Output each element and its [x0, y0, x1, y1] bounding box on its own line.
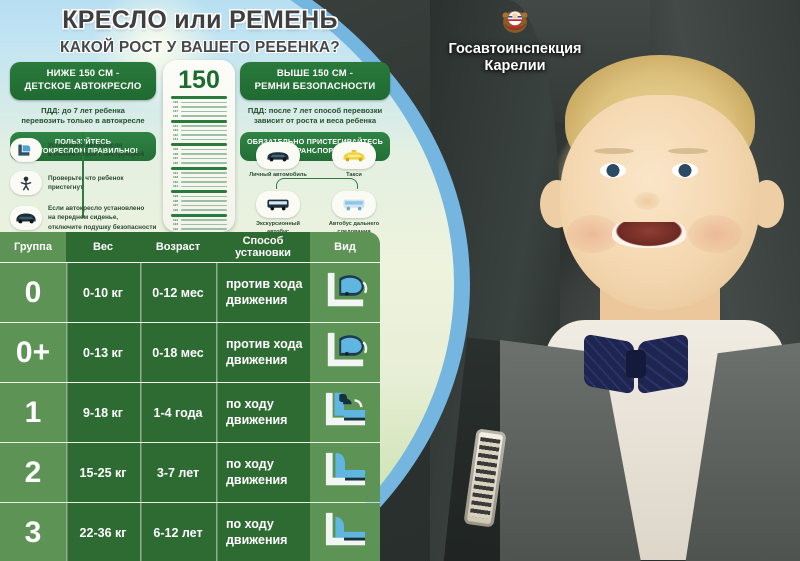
cell-age: 3-7 лет [140, 443, 216, 502]
cell-install: по ходу движения [216, 383, 310, 442]
list-item-text: Проверьте, что ребенок пристегнут [48, 174, 124, 193]
cell-age: 0-12 мес [140, 263, 216, 322]
over-150-note-line-1: ПДД: после 7 лет способ перевозки [240, 106, 390, 116]
table-row: 0 0-10 кг 0-12 мес против хода движения [0, 262, 380, 322]
cell-install: по ходу движения [216, 503, 310, 561]
ruler-tick-label: 139 [171, 148, 178, 151]
ruler-major-tick [171, 143, 227, 146]
under-150-note-line-1: ПДД: до 7 лет ребенка [10, 106, 156, 116]
cell-view [310, 383, 380, 442]
ruler-tick-label: 123 [171, 223, 178, 226]
over-150-note: ПДД: после 7 лет способ перевозки зависи… [240, 106, 390, 127]
transport-item: Такси [319, 142, 389, 179]
ruler-tick-label: 143 [171, 129, 178, 132]
infographic-poster: Госавтоинспекция Карелии КРЕСЛО или РЕМЕ… [0, 0, 800, 561]
cell-view [310, 263, 380, 322]
ruler-tick-label: 133 [171, 176, 178, 179]
title-heading: КРЕСЛО или РЕМЕНЬ [0, 6, 400, 35]
cell-age: 1-4 года [140, 383, 216, 442]
table-row: 3 22-36 кг 6-12 лет по ходу движения [0, 502, 380, 561]
column-header-weight: Вес [66, 232, 140, 262]
over-150-banner-line-1: ВЫШЕ 150 СМ - [244, 68, 386, 81]
over-150-note-line-2: зависит от роста и веса ребенка [240, 116, 390, 126]
cell-install: против хода движения [216, 323, 310, 382]
ruler-major-tick [171, 167, 227, 170]
cell-weight: 15-25 кг [66, 443, 140, 502]
cell-group: 2 [0, 443, 66, 502]
ruler-tick-label: 137 [171, 157, 178, 160]
buckled-child-icon [10, 171, 42, 195]
booster-highback-forward-facing-icon [318, 449, 372, 496]
cell-install-line-1: по ходу [226, 517, 287, 533]
table-header-row: Группа Вес Возраст Способ установки Вид [0, 232, 380, 262]
column-header-install: Способ установки [216, 232, 310, 262]
title-subheading: КАКОЙ РОСТ У ВАШЕГО РЕБЕНКА? [0, 39, 400, 57]
transport-row-1: Личный автомобиль Такси [240, 142, 392, 179]
cell-install-line-2: движения [226, 413, 287, 429]
child-car-seat-icon [10, 138, 42, 162]
infant-carrier-rear-facing-icon [318, 329, 372, 376]
column-header-install-line-1: Способ [235, 235, 291, 247]
tip-2-line-1: Проверьте, что ребенок [48, 174, 124, 183]
cell-install: по ходу движения [216, 443, 310, 502]
ruler-group: 134 133 132 131 [163, 167, 235, 189]
ruler-value: 150 [163, 68, 235, 93]
cell-install: против хода движения [216, 263, 310, 322]
ruler-tick-label: 126 [171, 209, 178, 212]
cell-install-line-2: движения [226, 473, 287, 489]
ruler-tick-label: 147 [171, 110, 178, 113]
transport-label: Такси [319, 172, 389, 179]
ruler-group: 129 128 127 126 [163, 190, 235, 212]
ruler-major-tick [171, 120, 227, 123]
column-header-age: Возраст [140, 232, 216, 262]
tip-1-line-1: Установите автокресло [48, 141, 144, 150]
ruler-tick-label: 129 [171, 195, 178, 198]
page-title: КРЕСЛО или РЕМЕНЬ КАКОЙ РОСТ У ВАШЕГО РЕ… [0, 6, 400, 57]
cell-age: 0-18 мес [140, 323, 216, 382]
ruler-tick-label: 127 [171, 204, 178, 207]
cell-install-line-1: по ходу [226, 457, 287, 473]
over-150-banner: ВЫШЕ 150 СМ - РЕМНИ БЕЗОПАСНОСТИ [240, 62, 390, 100]
ruler-tick-label: 141 [171, 138, 178, 141]
ruler-tick-label: 149 [171, 101, 178, 104]
cell-install-line-1: против хода [226, 337, 302, 353]
baby-eye-left [600, 163, 626, 178]
tip-3-line-2: на переднем сиденье, [48, 213, 156, 222]
baby-eye-right [672, 163, 698, 178]
cell-group: 0+ [0, 323, 66, 382]
under-150-note-line-2: перевозить только в автокресле [10, 116, 156, 126]
list-item: Если автокресло установлено на переднем … [10, 204, 170, 232]
cell-group: 3 [0, 503, 66, 561]
baby-cheek-right [688, 215, 742, 253]
brand-block: Госавтоинспекция Карелии [400, 4, 630, 75]
tip-2-line-2: пристегнут [48, 183, 124, 192]
toddler-seat-harness-forward-facing-icon [318, 389, 372, 436]
ruler-group: 144 143 142 141 [163, 120, 235, 142]
cell-view [310, 503, 380, 561]
column-header-group: Группа [0, 232, 66, 262]
taxi-icon [332, 142, 376, 169]
ruler-major-tick [171, 96, 227, 99]
under-150-note: ПДД: до 7 лет ребенка перевозить только … [10, 106, 156, 127]
baby-mouth [612, 222, 686, 248]
ruler-tick-label: 146 [171, 115, 178, 118]
transport-row-2: Экскурсионный автобус Автобу [240, 191, 392, 236]
ruler-tick-label: 131 [171, 185, 178, 188]
tip-3-line-1: Если автокресло установлено [48, 204, 156, 213]
cell-view [310, 323, 380, 382]
brand-line-1: Госавтоинспекция [400, 41, 630, 58]
column-header-view: Вид [310, 232, 380, 262]
cell-weight: 0-13 кг [66, 323, 140, 382]
cell-weight: 22-36 кг [66, 503, 140, 561]
cell-group: 1 [0, 383, 66, 442]
booster-lowback-forward-facing-icon [318, 509, 372, 556]
transport-2-line-1: Такси [319, 172, 389, 179]
safety-tips-list: Установите автокресло в соответствии с и… [10, 138, 170, 241]
car-front-icon [10, 206, 42, 230]
transport-3-line-1: Экскурсионный [243, 221, 313, 228]
car-seat-groups-table: Группа Вес Возраст Способ установки Вид … [0, 232, 380, 561]
height-ruler: 150 149 148 147 146 144 143 142 141 139 … [163, 60, 235, 232]
cell-install-line-1: против хода [226, 277, 302, 293]
brand-line-2: Карелии [400, 58, 630, 75]
under-150-banner: НИЖЕ 150 СМ - ДЕТСКОЕ АВТОКРЕСЛО [10, 62, 156, 100]
under-150-banner-line-2: ДЕТСКОЕ АВТОКРЕСЛО [14, 81, 152, 94]
column-header-install-line-2: установки [235, 247, 291, 259]
ruler-tick-label: 136 [171, 162, 178, 165]
baby-nose [634, 192, 660, 210]
coach-bus-icon [332, 191, 376, 218]
ruler-major-tick [171, 214, 227, 217]
cell-install-line-2: движения [226, 533, 287, 549]
ruler-group: 124 123 122 [163, 214, 235, 231]
transport-4-line-1: Автобус дальнего [319, 221, 389, 228]
infant-carrier-rear-facing-icon [318, 269, 372, 316]
private-car-icon [256, 142, 300, 169]
ruler-tick-label: 122 [171, 228, 178, 231]
list-item-text: Если автокресло установлено на переднем … [48, 204, 156, 232]
tour-bus-icon [256, 191, 300, 218]
cell-view [310, 443, 380, 502]
cell-install-line-2: движения [226, 293, 302, 309]
baby-bowtie [584, 338, 688, 390]
cell-age: 6-12 лет [140, 503, 216, 561]
transport-icons-grid: Личный автомобиль Такси [240, 142, 392, 236]
list-item-text: Установите автокресло в соответствии с и… [48, 141, 144, 160]
cell-install-line-2: движения [226, 353, 302, 369]
transport-item: Личный автомобиль [243, 142, 313, 179]
table-row: 0+ 0-13 кг 0-18 мес против хода движения [0, 322, 380, 382]
ruler-group: 149 148 147 146 [163, 96, 235, 118]
transport-item: Экскурсионный автобус [243, 191, 313, 236]
tip-1-line-2: в соответствии с инструкцией [48, 150, 144, 159]
baby-face [560, 95, 760, 310]
baby-eyebrow-right [668, 148, 708, 154]
over-150-banner-line-2: РЕМНИ БЕЗОПАСНОСТИ [244, 81, 386, 94]
baby-eyebrow-left [594, 148, 634, 154]
tip-3-line-3: отключите подушку безопасности [48, 223, 156, 232]
ruler-major-tick [171, 190, 227, 193]
transport-1-line-1: Личный автомобиль [243, 172, 313, 179]
cell-weight: 9-18 кг [66, 383, 140, 442]
table-row: 1 9-18 кг 1-4 года по ходу движения [0, 382, 380, 442]
transport-item: Автобус дальнего следования [319, 191, 389, 236]
table-row: 2 15-25 кг 3-7 лет по ходу движения [0, 442, 380, 502]
under-150-banner-line-1: НИЖЕ 150 СМ - [14, 68, 152, 81]
cell-weight: 0-10 кг [66, 263, 140, 322]
transport-label: Личный автомобиль [243, 172, 313, 179]
ruler-group: 139 138 137 136 [163, 143, 235, 165]
cell-group: 0 [0, 263, 66, 322]
list-item: Установите автокресло в соответствии с и… [10, 138, 170, 162]
cell-install-line-1: по ходу [226, 397, 287, 413]
gibdd-emblem-icon [498, 4, 532, 38]
list-item: Проверьте, что ребенок пристегнут [10, 171, 170, 195]
